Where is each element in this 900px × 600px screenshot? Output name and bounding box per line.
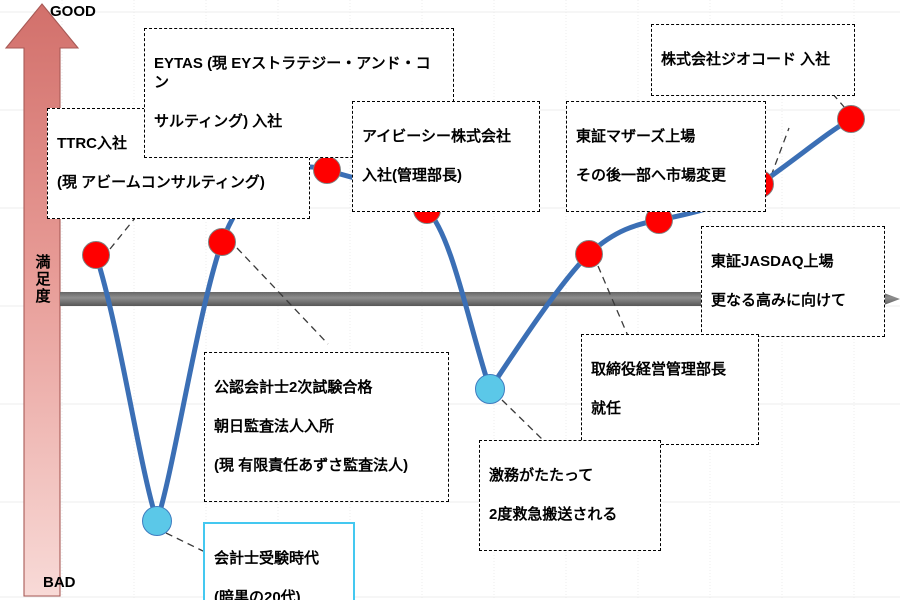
data-point-director[interactable]	[575, 240, 603, 268]
annotation-director-line2: 就任	[591, 399, 749, 419]
data-point-cpa[interactable]	[208, 228, 236, 256]
annotation-jasdaq-line1: 東証JASDAQ上場	[711, 252, 875, 272]
annotation-exam-era-line1: 会計士受験時代	[214, 549, 344, 569]
data-point-eytas[interactable]	[313, 156, 341, 184]
annotation-eytas-line1: EYTAS (現 EYストラテジー・アンド・コン	[154, 54, 444, 93]
annotation-cpa-line1: 公認会計士2次試験合格	[214, 378, 439, 398]
annotation-director[interactable]: 取締役経営管理部長 就任	[581, 334, 759, 445]
annotation-overwork[interactable]: 激務がたたって 2度救急搬送される	[479, 440, 661, 551]
annotation-ttrc-line2: (現 アビームコンサルティング)	[57, 173, 300, 193]
data-point-exam-era[interactable]	[142, 506, 172, 536]
annotation-mothers-line1: 東証マザーズ上場	[576, 127, 756, 147]
annotation-exam-era[interactable]: 会計士受験時代 (暗黒の20代)	[203, 522, 355, 600]
annotation-exam-era-line2: (暗黒の20代)	[214, 588, 344, 600]
data-point-overwork[interactable]	[475, 374, 505, 404]
annotation-overwork-line1: 激務がたたって	[489, 466, 651, 486]
annotation-mothers-line2: その後一部へ市場変更	[576, 166, 756, 186]
annotation-cpa-line3: (現 有限責任あずさ監査法人)	[214, 456, 439, 476]
y-axis-caption: 満 足 度	[26, 255, 60, 305]
data-point-geocode[interactable]	[837, 105, 865, 133]
annotation-jasdaq-line2: 更なる高みに向けて	[711, 291, 875, 311]
annotation-geocode-line1: 株式会社ジオコード 入社	[661, 50, 845, 70]
annotation-ibc-line2: 入社(管理部長)	[362, 166, 530, 186]
annotation-mothers[interactable]: 東証マザーズ上場 その後一部へ市場変更	[566, 101, 766, 212]
annotation-cpa[interactable]: 公認会計士2次試験合格 朝日監査法人入所 (現 有限責任あずさ監査法人)	[204, 352, 449, 502]
annotation-ibc[interactable]: アイビーシー株式会社 入社(管理部長)	[352, 101, 540, 212]
axis-label-good: GOOD	[50, 3, 96, 20]
annotation-ibc-line1: アイビーシー株式会社	[362, 127, 530, 147]
annotation-jasdaq[interactable]: 東証JASDAQ上場 更なる高みに向けて	[701, 226, 885, 337]
axis-label-bad: BAD	[43, 574, 76, 591]
annotation-director-line1: 取締役経営管理部長	[591, 360, 749, 380]
career-satisfaction-chart: 満 足 度 GOOD BAD	[0, 0, 900, 600]
data-point-ttrc[interactable]	[82, 241, 110, 269]
annotation-cpa-line2: 朝日監査法人入所	[214, 417, 439, 437]
annotation-geocode[interactable]: 株式会社ジオコード 入社	[651, 24, 855, 96]
annotation-overwork-line2: 2度救急搬送される	[489, 505, 651, 525]
